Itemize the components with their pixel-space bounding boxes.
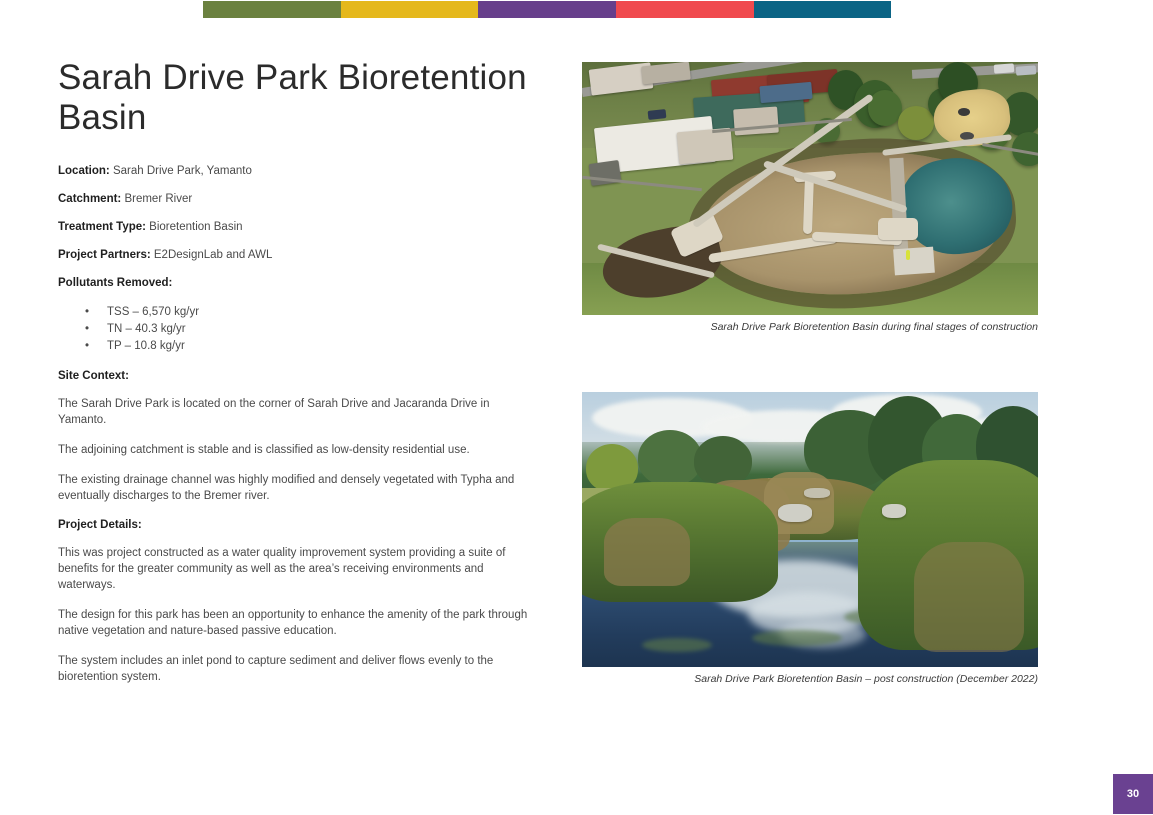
figure-post-construction: Sarah Drive Park Bioretention Basin – po… (582, 392, 1038, 686)
colour-bar-segment-yellow (341, 1, 478, 18)
metadata-catchment: Catchment: Bremer River (58, 192, 528, 206)
site-context-paragraph-3: The existing drainage channel was highly… (58, 472, 524, 504)
metadata-location-value: Sarah Drive Park, Yamanto (110, 165, 252, 177)
figure-aerial-construction: Sarah Drive Park Bioretention Basin duri… (582, 62, 1038, 334)
metadata-catchment-label: Catchment: (58, 193, 121, 205)
content-left-column: Sarah Drive Park Bioretention Basin Loca… (58, 58, 528, 699)
post-construction-wetland-photo (582, 392, 1038, 667)
decorative-colour-bar (203, 1, 891, 18)
aerial-construction-photo (582, 62, 1038, 315)
metadata-treatment-type: Treatment Type: Bioretention Basin (58, 220, 528, 234)
site-context-paragraph-1: The Sarah Drive Park is located on the c… (58, 396, 528, 428)
site-context-heading: Site Context: (58, 369, 528, 383)
project-details-paragraph-1: This was project constructed as a water … (58, 545, 506, 593)
metadata-treatment-type-label: Treatment Type: (58, 221, 146, 233)
project-details-heading: Project Details: (58, 518, 528, 532)
metadata-catchment-value: Bremer River (121, 193, 192, 205)
colour-bar-segment-green (203, 1, 341, 18)
metadata-project-partners-value: E2DesignLab and AWL (151, 249, 273, 261)
metadata-project-partners-label: Project Partners: (58, 249, 151, 261)
metadata-treatment-type-value: Bioretention Basin (146, 221, 243, 233)
metadata-project-partners: Project Partners: E2DesignLab and AWL (58, 248, 528, 262)
colour-bar-segment-red (616, 1, 754, 18)
pollutants-list: TSS – 6,570 kg/yr TN – 40.3 kg/yr TP – 1… (58, 304, 528, 355)
project-details-paragraph-3: The system includes an inlet pond to cap… (58, 653, 498, 685)
page-number-badge: 30 (1113, 774, 1153, 814)
figure-caption-aerial: Sarah Drive Park Bioretention Basin duri… (582, 321, 1038, 334)
list-item: TSS – 6,570 kg/yr (58, 304, 528, 321)
list-item: TN – 40.3 kg/yr (58, 321, 528, 338)
list-item: TP – 10.8 kg/yr (58, 338, 528, 355)
pollutants-heading-label: Pollutants Removed: (58, 277, 172, 289)
content-right-column: Sarah Drive Park Bioretention Basin duri… (582, 62, 1038, 686)
site-context-paragraph-2: The adjoining catchment is stable and is… (58, 442, 528, 458)
colour-bar-segment-teal (754, 1, 891, 18)
page-title: Sarah Drive Park Bioretention Basin (58, 58, 528, 138)
pollutants-heading: Pollutants Removed: (58, 276, 528, 290)
project-details-paragraph-2: The design for this park has been an opp… (58, 607, 528, 639)
metadata-location-label: Location: (58, 165, 110, 177)
metadata-location: Location: Sarah Drive Park, Yamanto (58, 164, 528, 178)
colour-bar-segment-purple (478, 1, 616, 18)
figure-caption-post-construction: Sarah Drive Park Bioretention Basin – po… (582, 673, 1038, 686)
